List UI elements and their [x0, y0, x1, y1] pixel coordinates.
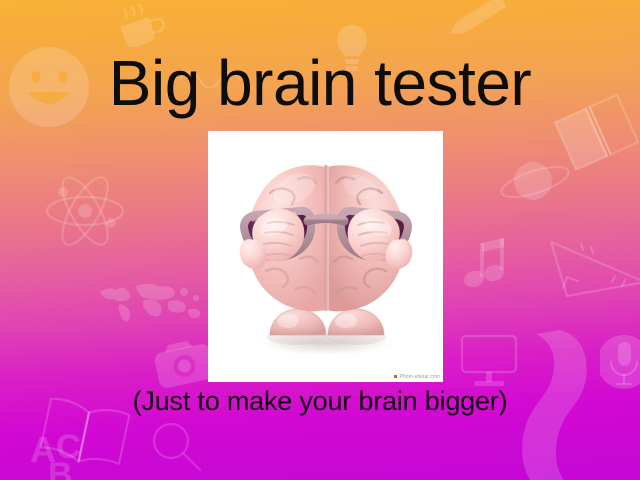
camera-icon [152, 336, 216, 392]
brain-illustration [208, 131, 443, 382]
microphone-icon [600, 334, 640, 394]
magnifier-icon [148, 418, 206, 476]
pencil-icon [440, 0, 520, 46]
brain-image-frame: Photo-elsoar.com [208, 131, 443, 382]
monitor-icon [456, 330, 524, 392]
svg-text:B: B [48, 456, 73, 480]
slide-title: Big brain tester [0, 50, 640, 117]
presentation-slide: A C B Big brain tester [0, 0, 640, 480]
svg-text:A: A [30, 429, 56, 470]
atom-icon [42, 168, 128, 254]
music-note-icon [462, 237, 512, 295]
abc-letters-icon: A C B [28, 428, 118, 480]
slide-subtitle: (Just to make your brain bigger) [0, 386, 640, 417]
world-map-icon [96, 280, 206, 326]
photo-watermark: Photo-elsoar.com [394, 374, 440, 380]
planet-icon [495, 155, 575, 209]
watermark-text: Photo-elsoar.com [399, 374, 440, 380]
triangle-icon [545, 232, 640, 302]
svg-text:C: C [56, 428, 81, 466]
